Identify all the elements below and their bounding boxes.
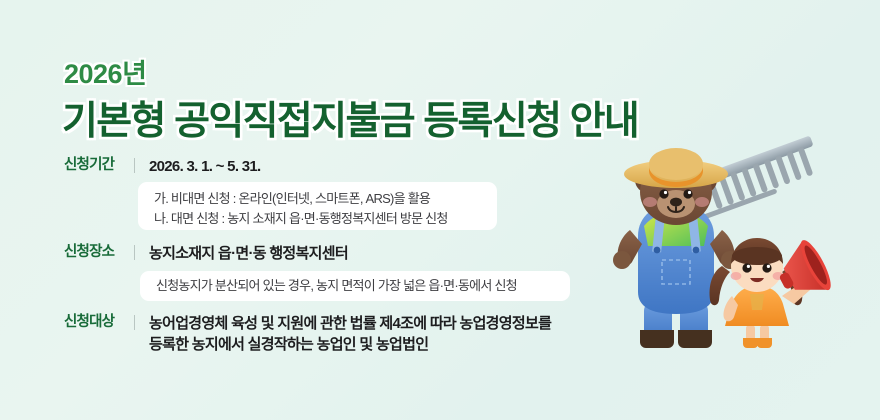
info-value-target: 농어업경영체 육성 및 지원에 관한 법률 제4조에 따라 농업경영정보를 등록… (149, 313, 551, 355)
label-divider (134, 315, 135, 330)
info-row-place: 신청장소 농지소재지 읍·면·동 행정복지센터 (64, 243, 348, 264)
label-divider (134, 245, 135, 260)
text-content: 2026년 기본형 공익직접지불금 등록신청 안내 신청기간 2026. 3. … (0, 0, 640, 420)
info-row-target: 신청대상 농어업경영체 육성 및 지원에 관한 법률 제4조에 따라 농업경영정… (64, 313, 551, 355)
promo-banner: 2026년 기본형 공익직접지불금 등록신청 안내 신청기간 2026. 3. … (0, 0, 880, 420)
info-value-period: 2026. 3. 1. ~ 5. 31. (149, 156, 261, 177)
note-box-period: 가. 비대면 신청 : 온라인(인터넷, 스마트폰, ARS)을 활용 나. 대… (138, 182, 497, 230)
info-label-period: 신청기간 (64, 156, 126, 175)
mascot-illustration (600, 130, 880, 370)
info-row-period: 신청기간 2026. 3. 1. ~ 5. 31. (64, 156, 261, 177)
bear-farmer-mascot (613, 148, 739, 348)
label-divider (134, 158, 135, 173)
note-box-place: 신청농지가 분산되어 있는 경우, 농지 면적이 가장 넓은 읍·면·동에서 신… (140, 271, 570, 301)
info-label-target: 신청대상 (64, 313, 126, 332)
info-label-place: 신청장소 (64, 243, 126, 262)
page-title: 기본형 공익직접지불금 등록신청 안내 (62, 90, 638, 146)
year-label: 2026년 (64, 52, 146, 91)
info-value-place: 농지소재지 읍·면·동 행정복지센터 (149, 243, 348, 264)
